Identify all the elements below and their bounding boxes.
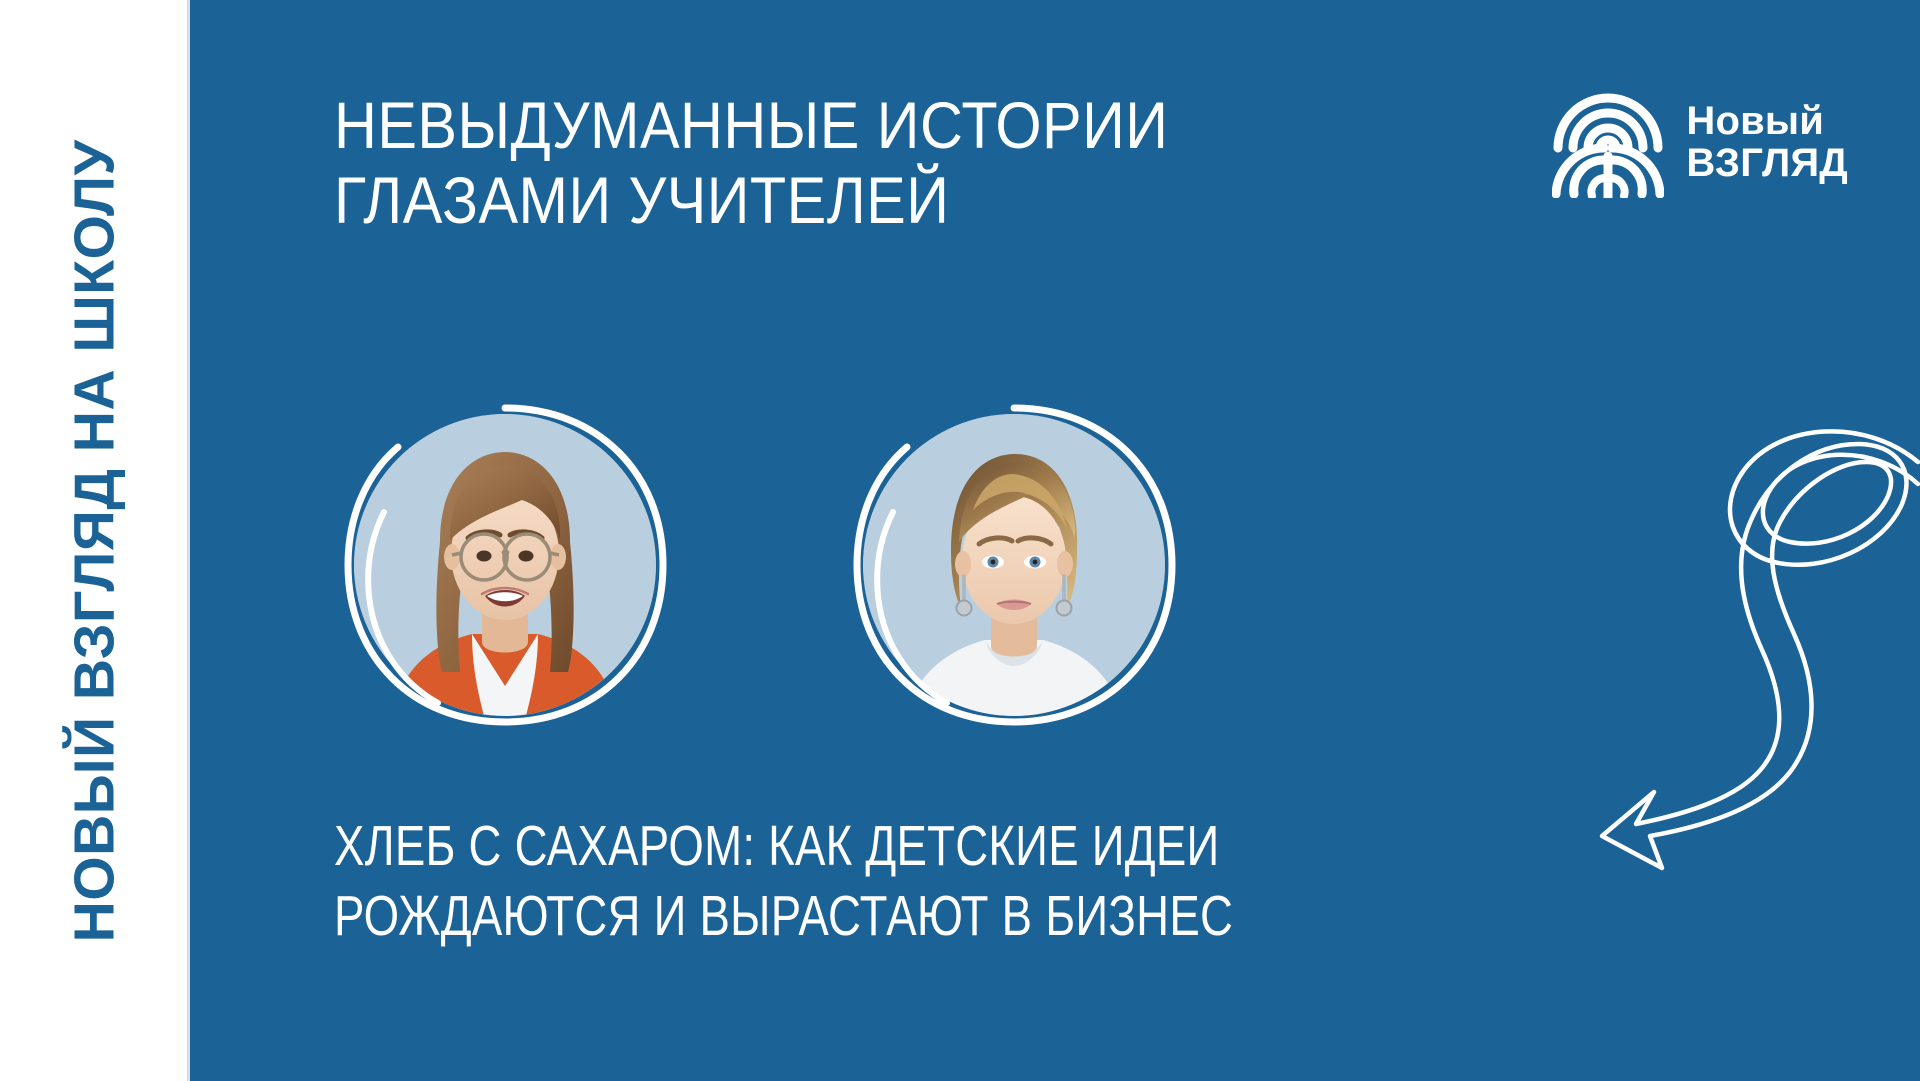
- sidebar: НОВЫЙ ВЗГЛЯД НА ШКОЛУ: [0, 0, 190, 1081]
- speaker-portrait-2: [849, 400, 1179, 730]
- speaker-portrait-2-photo: [863, 414, 1165, 716]
- page-title-line-1: НЕВЫДУМАННЫЕ ИСТОРИИ: [334, 88, 1288, 163]
- brand-logo-text: Новый взгляд: [1686, 100, 1848, 185]
- speaker-portrait-1-photo: [354, 414, 656, 716]
- hand-drawn-looping-arrow-icon: [1566, 400, 1920, 900]
- arcs-tree-logo-icon: [1552, 86, 1664, 198]
- session-subtitle-line-2: РОЖДАЮТСЯ И ВЫРАСТАЮТ В БИЗНЕС: [334, 882, 1294, 952]
- sidebar-vertical-title: НОВЫЙ ВЗГЛЯД НА ШКОЛУ: [67, 139, 124, 942]
- page-title-line-2: ГЛАЗАМИ УЧИТЕЛЕЙ: [334, 163, 1288, 238]
- brand-logo-text-line-1: Новый: [1686, 100, 1848, 142]
- main-content: НЕВЫДУМАННЫЕ ИСТОРИИ ГЛАЗАМИ УЧИТЕЛЕЙ: [190, 0, 1920, 1081]
- speaker-portrait-1: [340, 400, 670, 730]
- session-subtitle-line-1: ХЛЕБ С САХАРОМ: КАК ДЕТСКИЕ ИДЕИ: [334, 812, 1294, 882]
- session-subtitle: ХЛЕБ С САХАРОМ: КАК ДЕТСКИЕ ИДЕИ РОЖДАЮТ…: [334, 812, 1294, 951]
- brand-logo: Новый взгляд: [1552, 86, 1848, 198]
- slide-root: НОВЫЙ ВЗГЛЯД НА ШКОЛУ НЕВЫДУМАННЫЕ ИСТОР…: [0, 0, 1920, 1081]
- brand-logo-text-line-2: взгляд: [1686, 142, 1848, 184]
- sidebar-divider: [187, 0, 190, 1081]
- page-title: НЕВЫДУМАННЫЕ ИСТОРИИ ГЛАЗАМИ УЧИТЕЛЕЙ: [334, 88, 1288, 238]
